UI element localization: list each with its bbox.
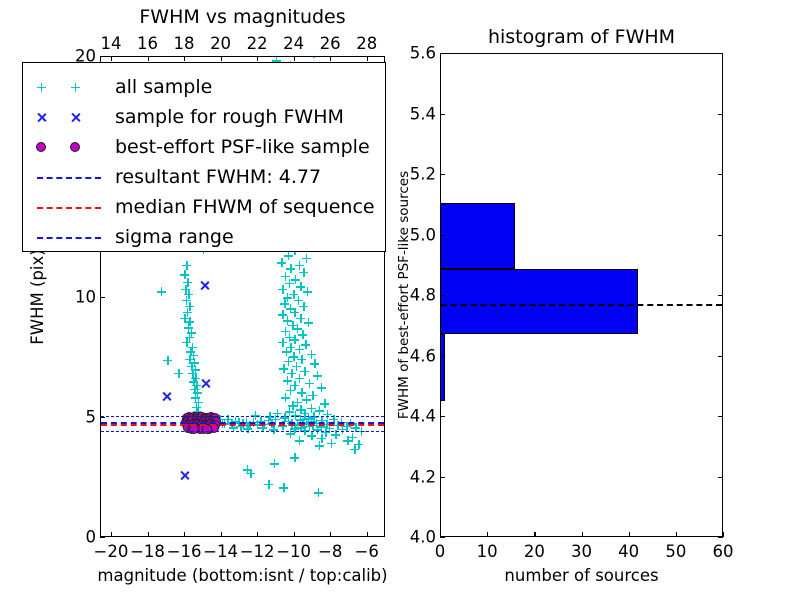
y-tick-right-panel [440,356,445,357]
x-tick-bottom [294,532,295,537]
x-tick-label-top: 26 [320,34,341,53]
scatter-point-all-sample [290,453,299,462]
scatter-point-all-sample [350,445,359,454]
histogram-bar [440,334,445,401]
x-tick-top [294,56,295,61]
y-tick-label-right-panel: 5.4 [392,104,436,123]
y-tick-label-right-panel: 5.6 [392,44,436,63]
x-tick-label-bottom: −10 [276,542,311,561]
legend-entry[interactable]: best-effort PSF-like sample [23,130,385,164]
x-tick-label-right-panel: 40 [618,542,639,561]
x-tick-label-top: 16 [137,34,158,53]
y-tick-right-panel-mirror [718,114,723,115]
scatter-point-all-sample [305,379,314,388]
scatter-point-all-sample [264,480,273,489]
histogram-bar [440,269,638,334]
left-yaxis-label: FWHM (pix) [28,249,47,344]
x-tick-label-bottom: −18 [130,542,165,561]
y-tick-right-panel-mirror [718,235,723,236]
x-tick-bottom [330,532,331,537]
x-tick-top [367,56,368,61]
x-tick-top [330,56,331,61]
x-tick-label-right-panel: 20 [524,542,545,561]
sigma-range-lower-line [101,431,384,432]
legend-box: all samplesample for rough FWHMbest-effo… [22,62,386,252]
x-tick-label-bottom: −12 [240,542,275,561]
x-tick-bottom [111,532,112,537]
right-yaxis-label: FWHM of best-effort PSF-like sources [396,171,412,419]
legend-sample [23,70,115,104]
x-tick-label-bottom: −6 [355,542,379,561]
left-xaxis-label: magnitude (bottom:isnt / top:calib) [97,566,387,585]
x-tick-label-bottom: −14 [203,542,238,561]
legend-entry[interactable]: all sample [23,70,385,104]
legend-entry[interactable]: resultant FWHM: 4.77 [23,160,385,194]
cross-marker-icon [36,112,47,123]
y-tick-right-panel [440,53,445,54]
x-tick-label-bottom: −20 [94,542,129,561]
x-tick-bottom [221,532,222,537]
y-tick-right-panel-mirror [718,356,723,357]
scatter-point-all-sample [314,488,323,497]
y-tick-left [100,297,105,298]
y-tick-right-panel-mirror [718,477,723,478]
scatter-point-all-sample [299,302,308,311]
x-tick-label-bottom: −8 [318,542,342,561]
y-tick-label-left: 5 [68,407,96,426]
scatter-point-all-sample [307,350,316,359]
y-tick-right-panel [440,114,445,115]
y-tick-left [100,537,105,538]
dashed-line-icon [37,177,101,179]
scatter-point-all-sample [174,369,183,378]
x-tick-bottom [257,532,258,537]
legend-sample [23,100,115,134]
dash-dot-line-icon [37,237,101,239]
scatter-point-all-sample [298,330,307,339]
x-tick-label-top: 18 [174,34,195,53]
plus-marker-icon [71,83,80,92]
y-tick-right-panel [440,174,445,175]
x-tick-label-bottom: −16 [167,542,202,561]
x-tick-label-top: 24 [283,34,304,53]
y-tick-label-right-panel: 4.2 [392,467,436,486]
figure-canvas: −20−18−16−14−12−10−8−6141618202224262805… [0,0,800,600]
legend-sample [23,130,115,164]
scatter-point-all-sample [277,258,286,267]
y-tick-right-panel [440,295,445,296]
x-tick-label-right-panel: 0 [435,542,446,561]
cross-marker-icon [70,112,81,123]
y-tick-right-panel [440,416,445,417]
y-tick-right-panel-mirror [718,416,723,417]
dashed-line-icon [37,207,101,209]
scatter-point-all-sample [303,287,312,296]
histogram-bar [440,203,515,270]
legend-entry[interactable]: median FHWM of sequence [23,190,385,224]
legend-sample [23,190,115,224]
y-tick-left [100,417,105,418]
x-tick-label-right-panel: 50 [665,542,686,561]
median-fwhm-line [101,424,384,426]
legend-label: best-effort PSF-like sample [115,136,370,158]
x-tick-bottom [184,532,185,537]
y-tick-right-panel [440,477,445,478]
legend-sample [23,220,115,254]
x-tick-label-right-panel: 60 [713,542,734,561]
y-tick-label-left: 10 [68,287,96,306]
sigma-range-upper-line [101,416,384,417]
y-tick-label-left: 0 [68,528,96,547]
y-tick-right-panel-mirror [718,53,723,54]
legend-label: resultant FWHM: 4.77 [115,166,321,188]
circle-marker-icon [70,142,80,152]
scatter-point-rough-fwhm [199,280,210,291]
scatter-point-all-sample [270,459,279,468]
scatter-point-all-sample [243,465,252,474]
x-tick-label-top: 28 [356,34,377,53]
x-tick-label-top: 14 [100,34,121,53]
x-tick-label-top: 20 [210,34,231,53]
y-tick-right-panel [440,235,445,236]
x-tick-top [148,56,149,61]
scatter-point-all-sample [310,359,319,368]
legend-label: median FHWM of sequence [115,196,375,218]
legend-label: sample for rough FWHM [115,106,344,128]
scatter-point-all-sample [304,318,313,327]
legend-entry[interactable]: sigma range [23,220,385,254]
plus-marker-icon [37,83,46,92]
scatter-point-all-sample [327,439,336,448]
x-tick-right-panel [487,532,488,537]
x-tick-right-panel [534,532,535,537]
scatter-point-all-sample [295,436,304,445]
x-tick-label-top: 22 [247,34,268,53]
x-tick-bottom [148,532,149,537]
y-tick-label-right-panel: 4.0 [392,528,436,547]
legend-entry[interactable]: sample for rough FWHM [23,100,385,134]
y-tick-right-panel [440,537,445,538]
x-tick-right-panel [582,532,583,537]
x-tick-top [257,56,258,61]
scatter-point-all-sample [313,371,322,380]
legend-label: all sample [115,76,212,98]
histogram-resultant-fwhm-line [441,304,722,306]
scatter-point-all-sample [307,431,316,440]
x-tick-top [221,56,222,61]
y-tick-left [100,56,105,57]
legend-sample [23,160,115,194]
scatter-point-all-sample [315,441,324,450]
x-tick-top [111,56,112,61]
x-tick-label-right-panel: 10 [477,542,498,561]
x-tick-bottom [367,532,368,537]
x-tick-right-panel [723,532,724,537]
left-panel-title: FWHM vs magnitudes [139,6,345,28]
scatter-point-all-sample [182,261,191,270]
scatter-point-all-sample [343,436,352,445]
x-tick-label-right-panel: 30 [571,542,592,561]
y-tick-right-panel-mirror [718,295,723,296]
x-tick-right-panel [629,532,630,537]
scatter-point-all-sample [317,383,326,392]
scatter-point-all-sample [309,57,318,58]
right-panel-title: histogram of FWHM [488,26,675,48]
y-tick-right-panel-mirror [718,174,723,175]
scatter-point-all-sample [163,356,172,365]
scatter-point-rough-fwhm [200,378,211,389]
right-xaxis-label: number of sources [504,566,658,585]
scatter-point-all-sample [299,268,308,277]
x-tick-top [184,56,185,61]
circle-marker-icon [36,142,46,152]
y-tick-right-panel-mirror [718,537,723,538]
scatter-point-rough-fwhm [161,391,172,402]
scatter-point-all-sample [157,287,166,296]
scatter-point-all-sample [279,483,288,492]
legend-label: sigma range [115,226,234,248]
scatter-point-rough-fwhm [179,470,190,481]
x-tick-right-panel [676,532,677,537]
